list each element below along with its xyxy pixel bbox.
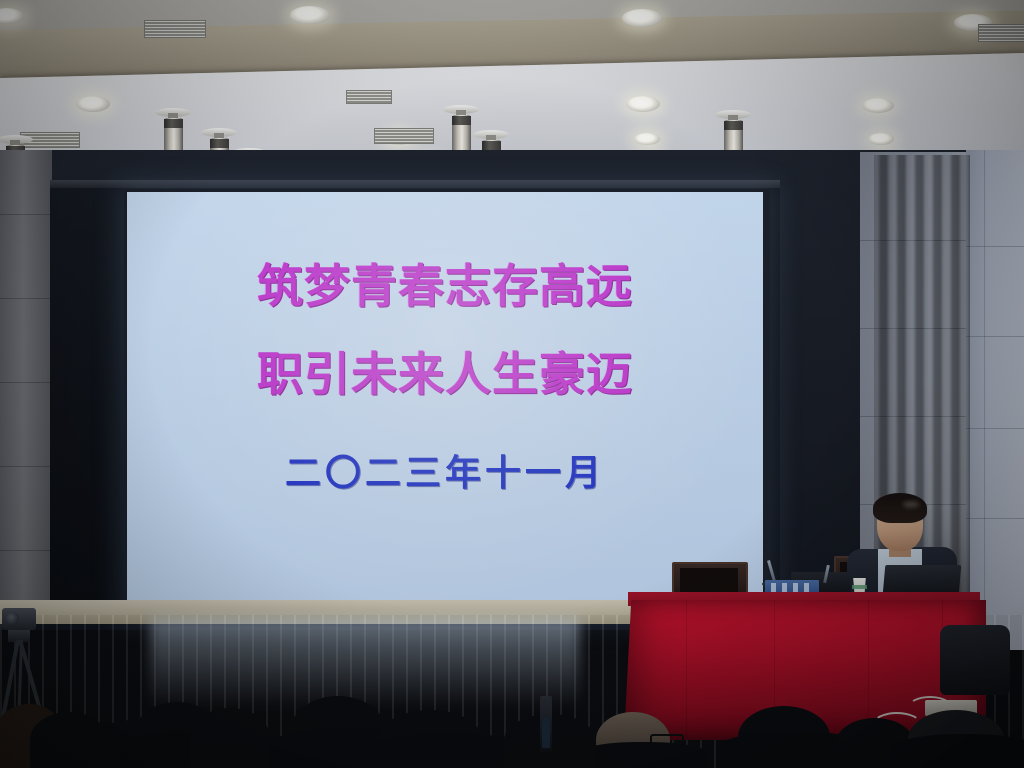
equipment-bag — [940, 625, 1010, 695]
left-wall-panels — [0, 150, 52, 620]
audience-shoulders — [890, 734, 1024, 768]
floor-screen-reflection — [150, 618, 580, 708]
presenter-hair — [873, 493, 927, 523]
slide-headline-line-2: 职引未来人生豪迈 — [257, 338, 633, 404]
ceiling-downlight — [622, 9, 662, 27]
ceiling-downlight — [868, 133, 894, 145]
screen-mounting-rail — [50, 180, 780, 188]
ceiling-downlight — [634, 133, 660, 145]
paper-cup-band — [852, 585, 867, 589]
camera-lens-icon — [6, 612, 19, 625]
photo-scene: 筑梦青春志存高远 职引未来人生豪迈 二〇二三年十一月 — [0, 0, 1024, 768]
presenter-face-highlight — [903, 501, 919, 508]
slide-headline-line-1: 筑梦青春志存高远 — [257, 250, 633, 316]
name-plate-text — [771, 583, 813, 592]
ceiling-air-vent — [978, 24, 1024, 42]
ceiling-air-vent — [346, 90, 392, 104]
ceiling-downlight — [626, 96, 660, 112]
ceiling-downlight — [862, 98, 894, 113]
projection-screen: 筑梦青春志存高远 职引未来人生豪迈 二〇二三年十一月 — [127, 192, 763, 610]
phone-screen — [542, 718, 550, 748]
audience-shoulders — [578, 742, 708, 768]
audience-head — [190, 708, 270, 768]
laptop — [883, 565, 962, 595]
ceiling-air-vent — [374, 128, 434, 144]
right-wall-panels-outer — [966, 150, 1024, 650]
ceiling-downlight — [290, 6, 330, 24]
slide-date-line: 二〇二三年十一月 — [285, 444, 605, 496]
ceiling-air-vent — [144, 20, 206, 38]
ceiling-downlight — [76, 96, 110, 112]
